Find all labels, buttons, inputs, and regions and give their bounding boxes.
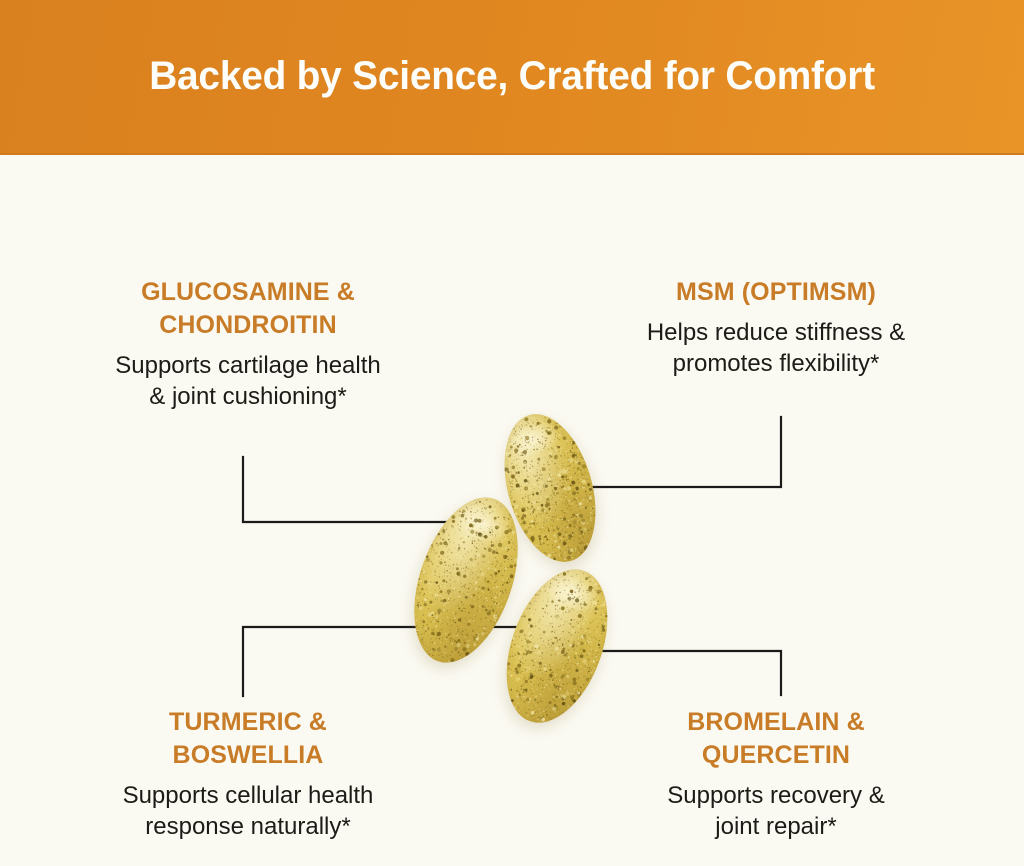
ingredient-description: Supports cellular health response natura… (28, 780, 468, 842)
ingredient-description: Supports recovery & joint repair* (556, 780, 996, 842)
ingredient-heading: BROMELAIN & QUERCETIN (556, 706, 996, 772)
ingredient-description: Helps reduce stiffness & promotes flexib… (556, 317, 996, 379)
connector-glucosamine-chondroitin (243, 457, 463, 522)
ingredient-heading: TURMERIC & BOSWELLIA (28, 706, 468, 772)
header-banner: Backed by Science, Crafted for Comfort (0, 0, 1024, 155)
ingredient-block-msm-optimsm: MSM (OPTIMSM) Helps reduce stiffness & p… (556, 276, 996, 379)
ingredient-block-turmeric-boswellia: TURMERIC & BOSWELLIA Supports cellular h… (28, 706, 468, 842)
ingredient-block-glucosamine-chondroitin: GLUCOSAMINE & CHONDROITIN Supports carti… (28, 276, 468, 412)
connector-msm-optimsm (561, 417, 781, 487)
ingredient-heading: MSM (OPTIMSM) (556, 276, 996, 309)
page-title: Backed by Science, Crafted for Comfort (149, 54, 875, 99)
ingredient-block-bromelain-quercetin: BROMELAIN & QUERCETIN Supports recovery … (556, 706, 996, 842)
ingredient-description: Supports cartilage health & joint cushio… (28, 350, 468, 412)
ingredient-heading: GLUCOSAMINE & CHONDROITIN (28, 276, 468, 342)
infographic-root: Backed by Science, Crafted for Comfort G… (0, 0, 1024, 866)
